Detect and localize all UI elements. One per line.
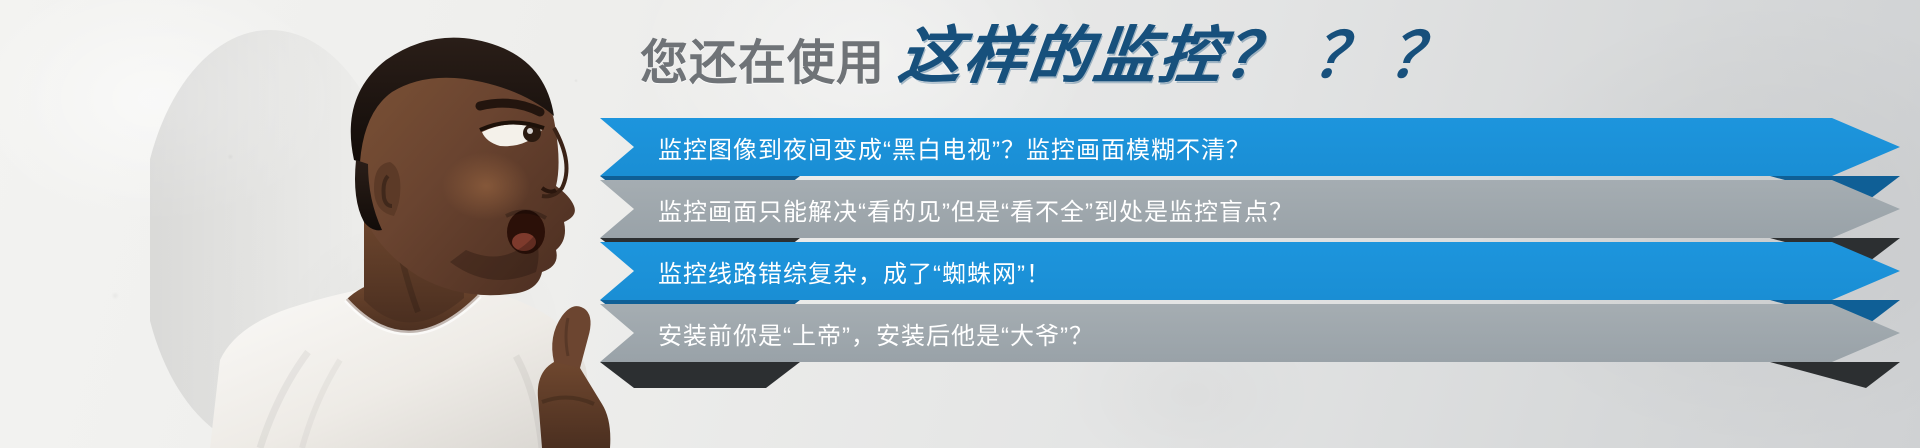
message-bar-list: 监控图像到夜间变成“黑白电视”？监控画面模糊不清？ 监控画面只能解决“看的见”但… [600, 118, 1910, 358]
message-bar-1-text: 监控图像到夜间变成“黑白电视”？监控画面模糊不清？ [658, 118, 1251, 176]
headline: 您还在使用 这样的监控？ ？？ [640, 26, 1465, 88]
promo-banner: 您还在使用 这样的监控？ ？？ 监控图像到夜间变成“黑白电视”？监控画面模糊不清… [0, 0, 1920, 448]
message-bar-2-text: 监控画面只能解决“看的见”但是“看不全”到处是监控盲点？ [658, 180, 1294, 238]
headline-plain-text: 您还在使用 [640, 40, 885, 88]
headline-accent-text: 这样的监控？ [895, 26, 1293, 88]
message-bar-2[interactable]: 监控画面只能解决“看的见”但是“看不全”到处是监控盲点？ [600, 180, 1900, 238]
portrait-image [150, 0, 670, 448]
headline-question-marks: ？？ [1299, 26, 1469, 88]
message-bar-3-text: 监控线路错综复杂，成了“蜘蛛网”！ [658, 242, 1051, 300]
hand [538, 359, 611, 448]
index-finger [552, 306, 590, 368]
message-bar-3[interactable]: 监控线路错综复杂，成了“蜘蛛网”！ [600, 242, 1900, 300]
message-bar-4[interactable]: 安装前你是“上帝”，安装后他是“大爷”？ [600, 304, 1900, 362]
message-bar-1[interactable]: 监控图像到夜间变成“黑白电视”？监控画面模糊不清？ [600, 118, 1900, 176]
message-bar-4-text: 安装前你是“上帝”，安装后他是“大爷”？ [658, 304, 1094, 362]
bar-fold-right [1770, 362, 1900, 388]
bar-fold-left [600, 362, 800, 388]
